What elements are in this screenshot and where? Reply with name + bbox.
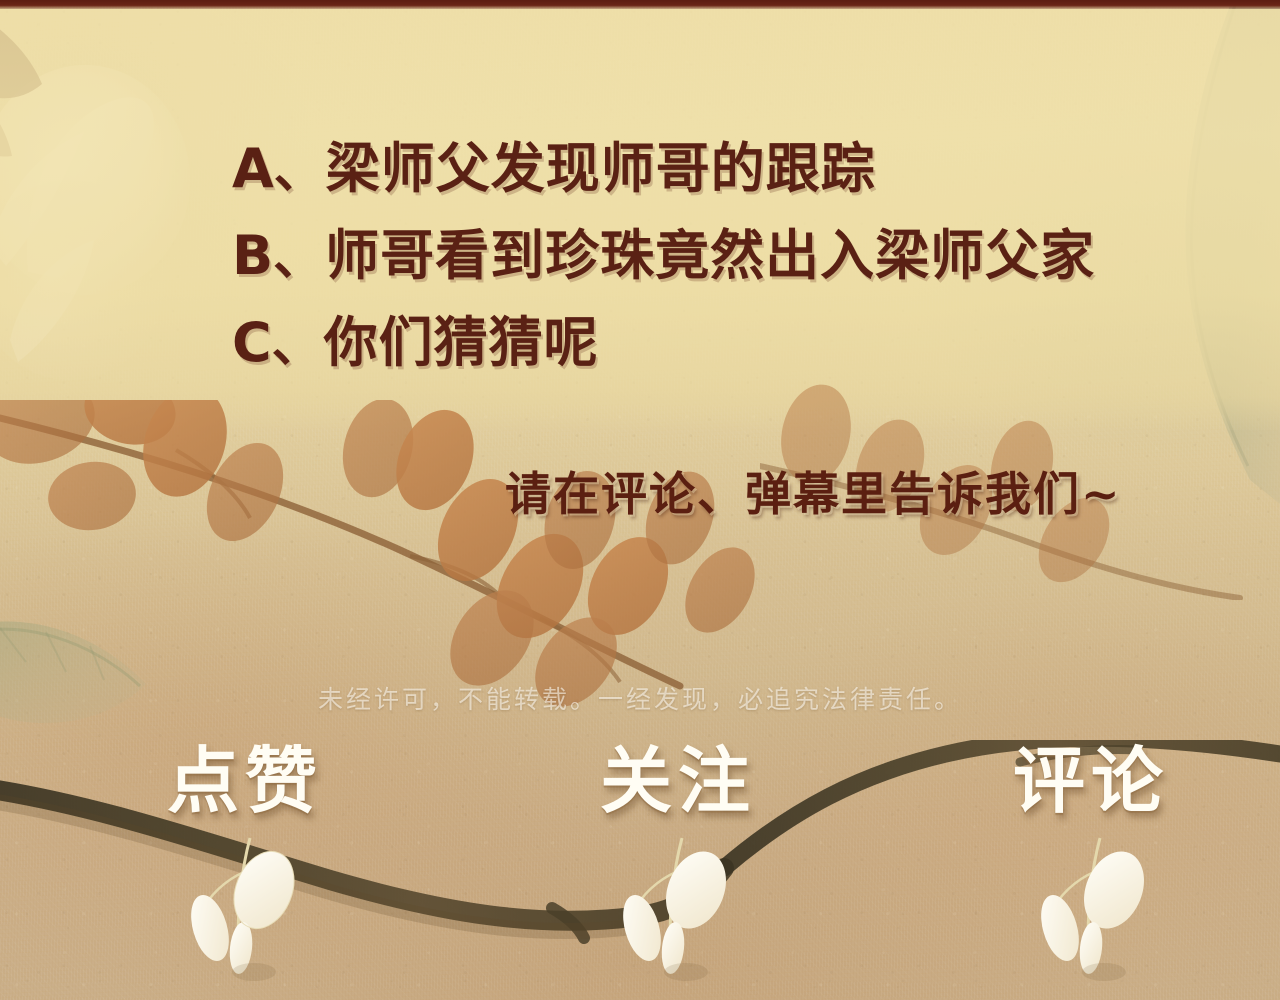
option-key-a: A [232, 137, 274, 200]
page-root: A 、 梁师父发现师哥的跟踪 B 、 师哥看到珍珠竟然出入梁师父家 C 、 你们… [0, 0, 1280, 1000]
option-key-b: B [232, 224, 273, 287]
option-text-c: 你们猜猜呢 [324, 298, 599, 377]
option-separator-a: 、 [274, 130, 324, 202]
cta-comment-button[interactable]: 评论 [1013, 731, 1169, 831]
option-list: A 、 梁师父发现师哥的跟踪 B 、 师哥看到珍珠竟然出入梁师父家 C 、 你们… [232, 124, 1242, 385]
option-separator-b: 、 [273, 217, 323, 289]
cta-follow-button[interactable]: 关注 [600, 731, 756, 831]
prompt-text: 请在评论、弹幕里告诉我们~ [505, 458, 1122, 524]
option-text-a: 梁师父发现师哥的跟踪 [326, 124, 876, 203]
option-key-c: C [232, 311, 272, 374]
option-item-a[interactable]: A 、 梁师父发现师哥的跟踪 [232, 124, 1242, 203]
cta-like-button[interactable]: 点赞 [167, 731, 323, 831]
copyright-watermark: 未经许可，不能转载。一经发现，必追究法律责任。 [0, 680, 1280, 716]
option-separator-c: 、 [272, 304, 322, 376]
top-accent-strip [0, 0, 1280, 9]
option-item-c[interactable]: C 、 你们猜猜呢 [232, 298, 1242, 377]
cta-row: 点赞 关注 评论 [0, 731, 1280, 836]
option-text-b: 师哥看到珍珠竟然出入梁师父家 [325, 211, 1095, 290]
option-item-b[interactable]: B 、 师哥看到珍珠竟然出入梁师父家 [232, 211, 1242, 290]
